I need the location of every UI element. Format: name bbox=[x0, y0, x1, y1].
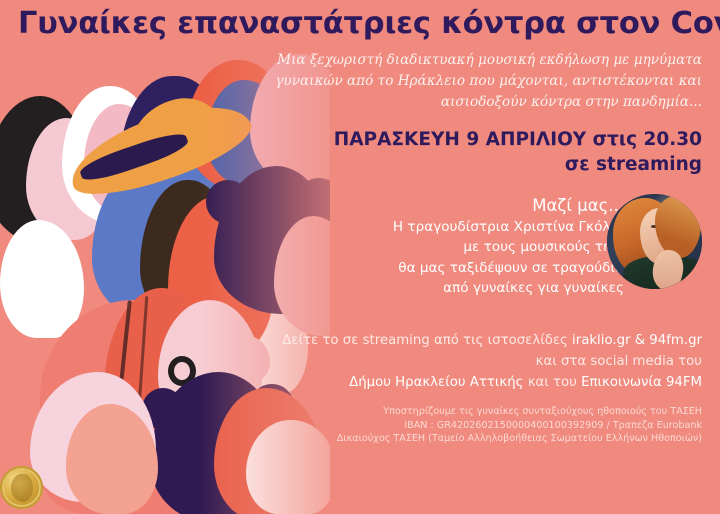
streaming-line-2: και στα social media του bbox=[232, 351, 702, 372]
singer-portrait-photo bbox=[607, 194, 702, 289]
support-beneficiary: Δικαιούχος ΤΑΣΕΗ (Ταμείο Αλληλοβοήθειας … bbox=[232, 432, 702, 446]
radio-link[interactable]: Επικοινωνία 94FM bbox=[581, 375, 702, 390]
subtitle: Μια ξεχωριστή διαδικτυακή μουσική εκδήλω… bbox=[250, 50, 702, 113]
municipality-link[interactable]: Δήμου Ηρακλείου Αττικής bbox=[349, 375, 523, 390]
guest-role-label: Η τραγουδίστρια bbox=[393, 219, 514, 235]
event-date-line: ΠΑΡΑΣΚΕΥΗ 9 ΑΠΡΙΛΙΟΥ στις 20.30 bbox=[262, 127, 702, 152]
guest-info: Μαζί μας... Η τραγουδίστρια Χριστίνα Γκό… bbox=[224, 196, 624, 299]
support-iban: IBAN : GR4202602150000400100392909 / Τρα… bbox=[232, 419, 702, 433]
streaming-websites[interactable]: iraklio.gr & 94fm.gr bbox=[572, 333, 702, 348]
page-title: Γυναίκες επαναστάτριες κόντρα στον Covid… bbox=[18, 6, 708, 41]
streaming-line-1: Δείτε το σε streaming από τις ιστοσελίδε… bbox=[232, 330, 702, 351]
support-line-1: Υποστηρίζουμε τις γυναίκες συνταξιούχους… bbox=[232, 405, 702, 419]
guest-line-2: με τους μουσικούς της, bbox=[224, 237, 624, 258]
municipality-medallion-icon bbox=[0, 466, 43, 509]
support-info: Υποστηρίζουμε τις γυναίκες συνταξιούχους… bbox=[232, 405, 702, 446]
guest-line-3: θα μας ταξιδέψουν σε τραγούδια bbox=[224, 258, 624, 279]
streaming-label: Δείτε το σε streaming από τις ιστοσελίδε… bbox=[282, 333, 572, 348]
streaming-conjunction: και του bbox=[523, 375, 581, 390]
subtitle-line-1: Μια ξεχωριστή διαδικτυακή μουσική εκδήλω… bbox=[250, 50, 702, 71]
subtitle-line-2: γυναικών από το Ηράκλειο που μάχονται, α… bbox=[250, 71, 702, 92]
event-datetime: ΠΑΡΑΣΚΕΥΗ 9 ΑΠΡΙΛΙΟΥ στις 20.30 σε strea… bbox=[262, 127, 702, 177]
guest-line-4: από γυναίκες για γυναίκες bbox=[224, 278, 624, 299]
medallion-profile-relief bbox=[11, 474, 33, 502]
sponsor-logo-bar: ΔΗΜΟΣ ΗΡΑΚΛΕΙΟΥ ΑΤΤΙΚΗΣ Τμήμα Πολιτισμού… bbox=[0, 466, 720, 514]
guest-line-1: Η τραγουδίστρια Χριστίνα Γκόλια bbox=[224, 217, 624, 238]
guest-heading: Μαζί μας... bbox=[224, 196, 624, 217]
streaming-info: Δείτε το σε streaming από τις ιστοσελίδε… bbox=[232, 330, 702, 393]
event-poster: Γυναίκες επαναστάτριες κόντρα στον Covid… bbox=[0, 0, 720, 514]
streaming-line-3: Δήμου Ηρακλείου Αττικής και του Επικοινω… bbox=[232, 372, 702, 393]
subtitle-line-3: αισιοδοξούν κόντρα στην πανδημία... bbox=[250, 92, 702, 113]
event-format-line: σε streaming bbox=[262, 152, 702, 177]
